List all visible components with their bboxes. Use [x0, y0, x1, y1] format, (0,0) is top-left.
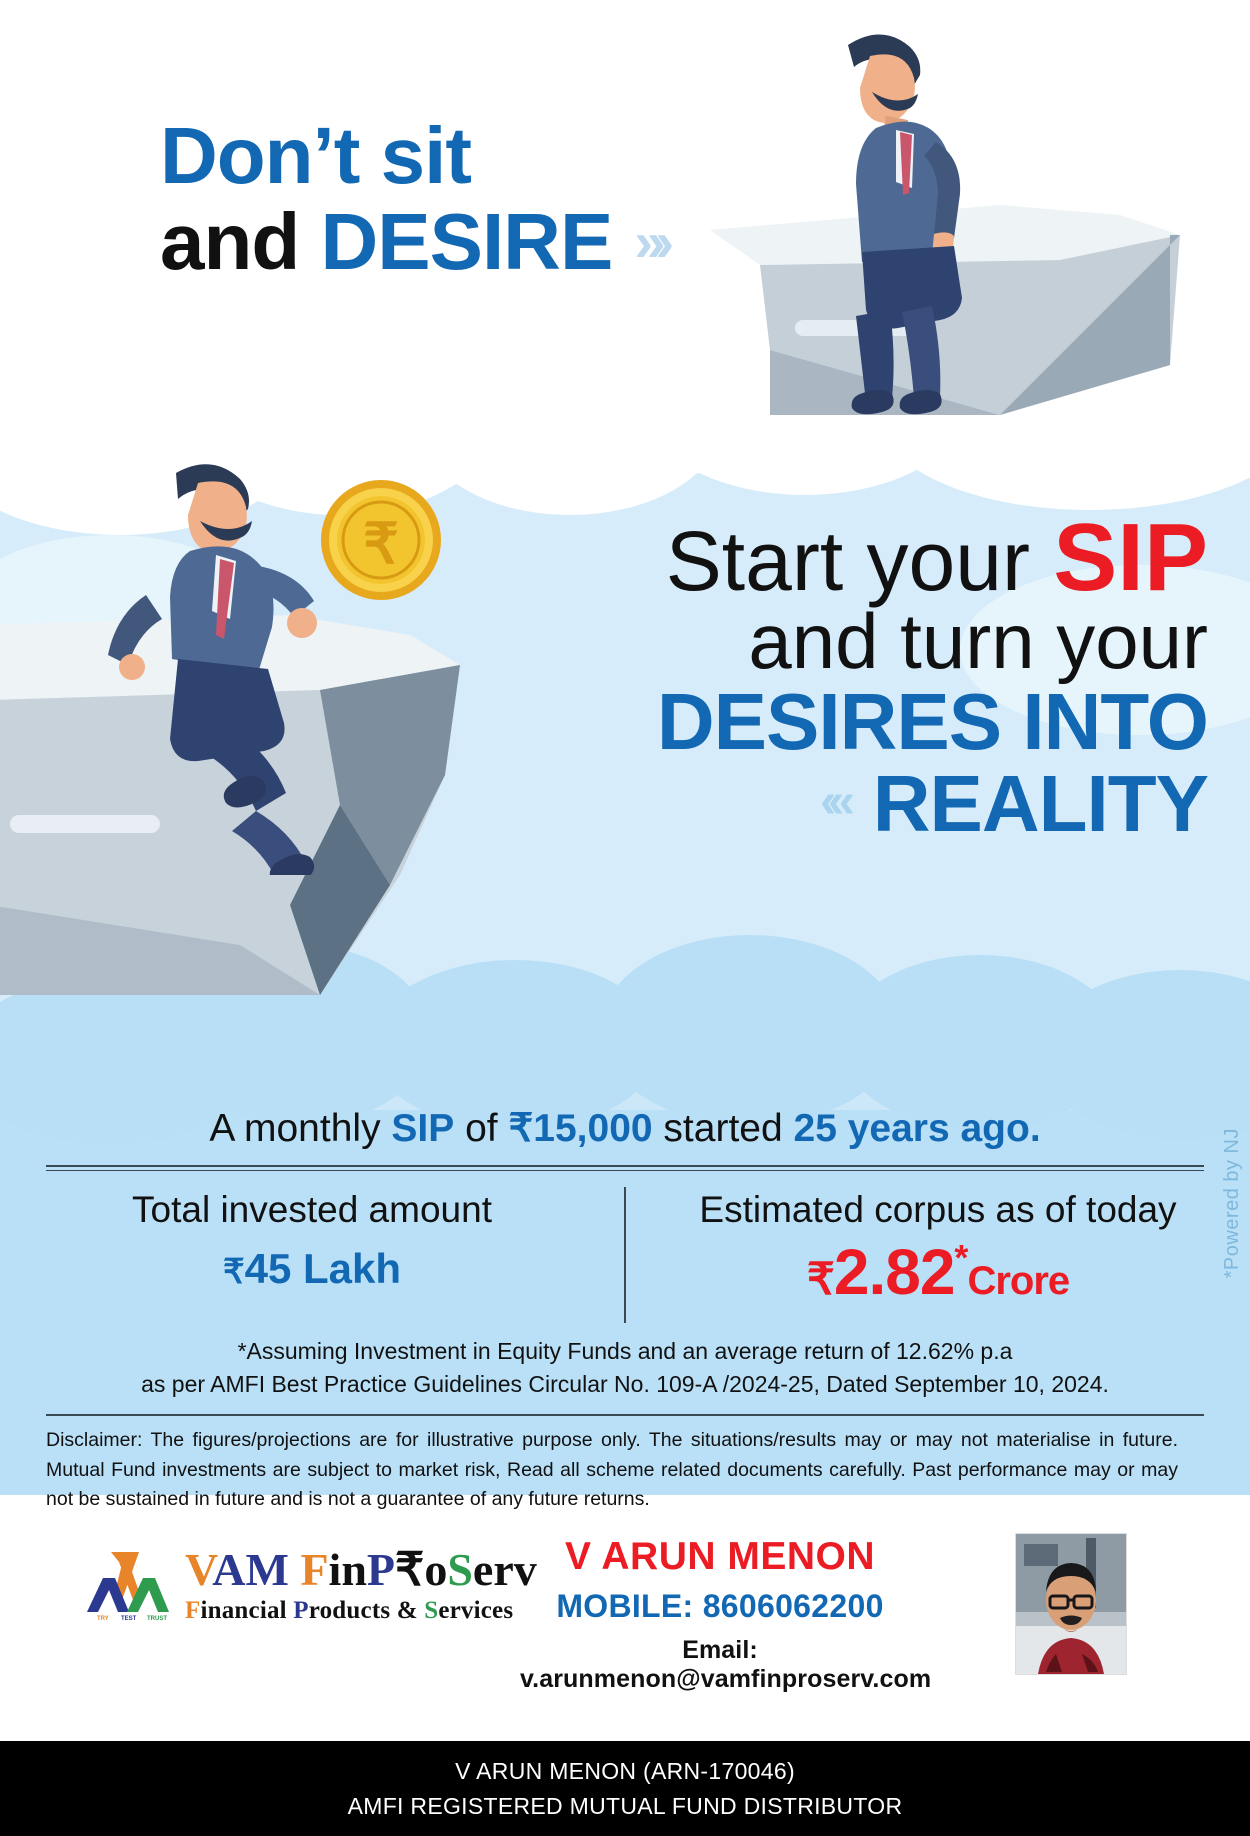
brand-p: P	[367, 1544, 395, 1595]
brand-rupee-glyph: ₹	[395, 1544, 424, 1595]
sip-summary-sip: SIP	[391, 1107, 454, 1150]
footer-contact-section: TRY TEST TRUST VAM FinP₹oServ Financial …	[0, 1495, 1250, 1745]
chevron-right-icon: »›	[634, 213, 664, 270]
invested-amount-value: ₹45 Lakh	[10, 1245, 614, 1293]
main-line-1: Start your SIP	[657, 510, 1208, 606]
main-line-4: ‹«REALITY	[657, 764, 1208, 844]
estimated-corpus-number: 2.82	[834, 1236, 955, 1308]
figures-columns: Total invested amount ₹45 Lakh Estimated…	[0, 1187, 1250, 1323]
chevron-left-icon: ‹«	[820, 778, 847, 826]
estimated-corpus-unit: Crore	[967, 1259, 1069, 1303]
page-title: Don’t sit and DESIRE»›	[160, 115, 664, 282]
assumption-note: *Assuming Investment in Equity Funds and…	[0, 1323, 1250, 1410]
rupee-symbol-right: ₹	[807, 1255, 834, 1304]
sip-summary-b: of	[454, 1107, 508, 1150]
trust-word-3: TRUST	[147, 1616, 167, 1622]
tagline-p: P	[293, 1597, 308, 1624]
tagline-amp: &	[397, 1597, 424, 1624]
estimated-corpus-column: Estimated corpus as of today ₹2.82*Crore	[626, 1187, 1250, 1323]
main-line-4-text: REALITY	[873, 759, 1208, 848]
powered-by-label: *Powered by NJ	[1221, 1128, 1244, 1278]
assumption-line-1: *Assuming Investment in Equity Funds and…	[60, 1335, 1190, 1368]
headline-line-2: and DESIRE»›	[160, 201, 664, 283]
brand-tagline: Financial Products & Services	[185, 1598, 537, 1623]
sip-summary-years: 25 years ago.	[794, 1107, 1041, 1150]
svg-text:₹: ₹	[363, 512, 399, 575]
divider-top	[46, 1165, 1204, 1167]
brand-wordmark: VAM FinP₹oServ Financial Products & Serv…	[185, 1547, 537, 1623]
main-line-2: and turn your	[657, 602, 1208, 680]
headline-line-1: Don’t sit	[160, 115, 664, 197]
brand-s: S	[447, 1544, 473, 1595]
advisor-portrait-graphic	[1016, 1534, 1126, 1674]
tagline-f: F	[185, 1597, 200, 1624]
tagline-s: S	[424, 1597, 438, 1624]
top-cliff-illustration	[700, 20, 1250, 440]
advisor-photo	[1015, 1533, 1127, 1675]
sip-summary-line: A monthly SIP of ₹15,000 started 25 year…	[0, 1100, 1250, 1165]
footer-arn-line: V ARUN MENON (ARN-170046)	[455, 1758, 795, 1785]
brand-f: F	[300, 1544, 328, 1595]
trust-word-2: TEST	[121, 1616, 137, 1622]
rupee-coin-icon: ₹	[316, 475, 446, 605]
invested-amount-column: Total invested amount ₹45 Lakh	[0, 1187, 626, 1323]
brand-in: in	[329, 1544, 367, 1595]
footnote-asterisk: *	[954, 1237, 967, 1278]
tagline-inancial: inancial	[200, 1597, 293, 1624]
trust-word-1: TRY	[97, 1616, 109, 1622]
advisor-contact-block: V ARUN MENON MOBILE: 8606062200 Email: v…	[520, 1535, 920, 1694]
headline-line-2-emph: DESIRE	[320, 197, 612, 286]
estimated-corpus-value: ₹2.82*Crore	[636, 1235, 1240, 1309]
estimated-corpus-label: Estimated corpus as of today	[636, 1189, 1240, 1231]
brand-am: AM	[212, 1544, 289, 1595]
main-line-1-plain: Start your	[666, 514, 1053, 608]
vam-logo-icon: TRY TEST TRUST	[85, 1548, 175, 1622]
advisor-mobile[interactable]: MOBILE: 8606062200	[520, 1588, 920, 1625]
disclaimer-text: Disclaimer: The figures/projections are …	[46, 1426, 1204, 1514]
advisor-email[interactable]: Email: v.arunmenon@vamfinproserv.com	[520, 1636, 920, 1694]
brand-o: o	[424, 1544, 447, 1595]
tagline-ervices: ervices	[438, 1597, 513, 1624]
brand-v: V	[185, 1544, 212, 1595]
brand-name-line: VAM FinP₹oServ	[185, 1547, 537, 1593]
main-line-1-sip: SIP	[1053, 504, 1208, 611]
footer-distributor-line: AMFI REGISTERED MUTUAL FUND DISTRIBUTOR	[348, 1793, 903, 1820]
sip-summary-c: started	[653, 1107, 794, 1150]
invested-amount-label: Total invested amount	[10, 1189, 614, 1231]
rupee-symbol-left: ₹	[223, 1253, 245, 1291]
headline-line-2-plain: and	[160, 197, 320, 286]
tagline-roducts: roducts	[309, 1597, 397, 1624]
footer-disclosure-bar: V ARUN MENON (ARN-170046) AMFI REGISTERE…	[0, 1741, 1250, 1836]
sip-summary-amount: ₹15,000	[508, 1107, 652, 1150]
disclaimer-wrapper: Disclaimer: The figures/projections are …	[46, 1414, 1204, 1514]
sip-figures-panel: A monthly SIP of ₹15,000 started 25 year…	[0, 1100, 1250, 1514]
sip-summary-a: A monthly	[209, 1107, 391, 1150]
poster-canvas: Don’t sit and DESIRE»›	[0, 0, 1250, 1836]
assumption-line-2: as per AMFI Best Practice Guidelines Cir…	[60, 1368, 1190, 1401]
invested-amount-number: 45 Lakh	[245, 1245, 401, 1292]
brand-logo[interactable]: TRY TEST TRUST VAM FinP₹oServ Financial …	[85, 1547, 537, 1623]
advisor-name: V ARUN MENON	[520, 1535, 920, 1579]
main-line-3: DESIRES INTO	[657, 682, 1208, 762]
main-headline: Start your SIP and turn your DESIRES INT…	[657, 510, 1208, 844]
divider-top-thin	[46, 1170, 1204, 1171]
